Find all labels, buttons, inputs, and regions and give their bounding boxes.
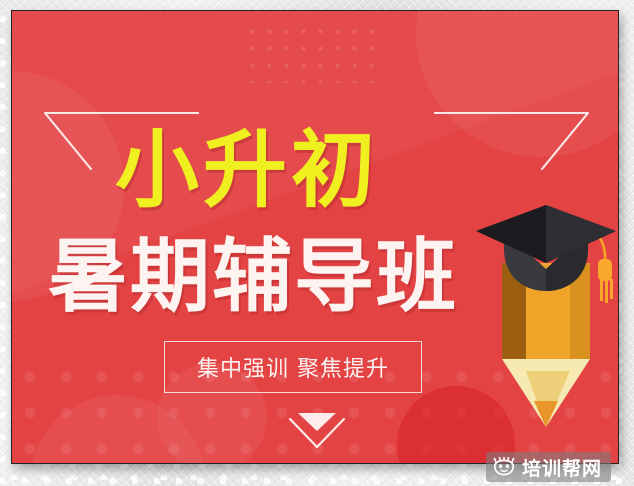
down-chevron-icon (284, 407, 350, 451)
watermark-text: 培训帮网 (522, 454, 602, 481)
dot-grid-top-icon (244, 23, 381, 83)
cap-tassel (598, 259, 613, 303)
sun-face-icon (493, 457, 515, 477)
page-title-primary: 小升初 (12, 128, 482, 212)
graduation-cap (476, 205, 616, 291)
pencil-with-graduation-cap-icon (474, 201, 618, 441)
corner-rule-right-icon (434, 111, 594, 171)
circle-blob-top-right (416, 10, 619, 157)
circle-blob-bottom-left (30, 395, 205, 464)
circle-blob-top-left (11, 71, 124, 301)
poster-card: 小升初 暑期辅导班 集中强训 聚焦提升 (11, 10, 619, 464)
page-title-secondary: 暑期辅导班 (12, 237, 494, 317)
watermark: 培训帮网 (486, 452, 611, 482)
poster-outer-mat: 小升初 暑期辅导班 集中强训 聚焦提升 培训帮网 (0, 0, 634, 486)
subtitle-text: 集中强训 聚焦提升 (197, 351, 389, 383)
subtitle-box: 集中强训 聚焦提升 (164, 341, 422, 393)
corner-rule-left-icon (39, 111, 199, 171)
